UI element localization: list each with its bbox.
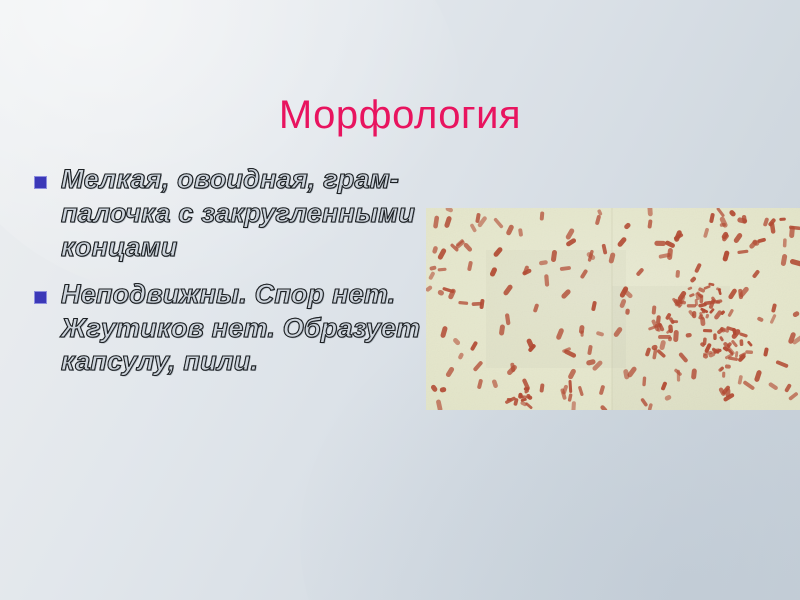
- list-item: Мелкая, овоидная, грам- палочка с закруг…: [34, 163, 426, 265]
- page-title: Морфология: [0, 93, 800, 138]
- bullet-square-icon: [34, 291, 47, 304]
- micrograph-canvas: [426, 208, 800, 410]
- bacterium: [739, 339, 743, 346]
- bacterium: [687, 304, 696, 307]
- bacterium: [783, 238, 787, 247]
- bacterium: [507, 398, 512, 401]
- bullet-list: Мелкая, овоидная, грам- палочка с закруг…: [34, 163, 426, 392]
- bacterium: [654, 241, 666, 246]
- bullet-item-label: Мелкая, овоидная, грам- палочка с закруг…: [61, 163, 426, 265]
- bacterium: [580, 330, 583, 336]
- list-item: Неподвижны. Спор нет. Жгутиков нет. Обра…: [34, 278, 426, 380]
- bacterium: [520, 395, 527, 398]
- bacterium: [677, 370, 680, 382]
- bacterium: [526, 394, 530, 399]
- bacterium: [703, 329, 712, 333]
- gram-stain-micrograph: [426, 208, 800, 410]
- bacterium: [745, 350, 753, 354]
- bacterium: [673, 330, 679, 342]
- bacterium: [713, 333, 717, 340]
- bacterium: [716, 301, 721, 304]
- slide-canvas: Морфология Мелкая, овоидная, грам- палоч…: [0, 0, 800, 600]
- bacterium: [779, 218, 786, 221]
- bacterium: [472, 302, 483, 306]
- bullet-item-label: Неподвижны. Спор нет. Жгутиков нет. Обра…: [61, 278, 426, 380]
- bullet-square-icon: [34, 176, 47, 189]
- bacterium: [722, 372, 725, 378]
- bacterium: [571, 401, 576, 410]
